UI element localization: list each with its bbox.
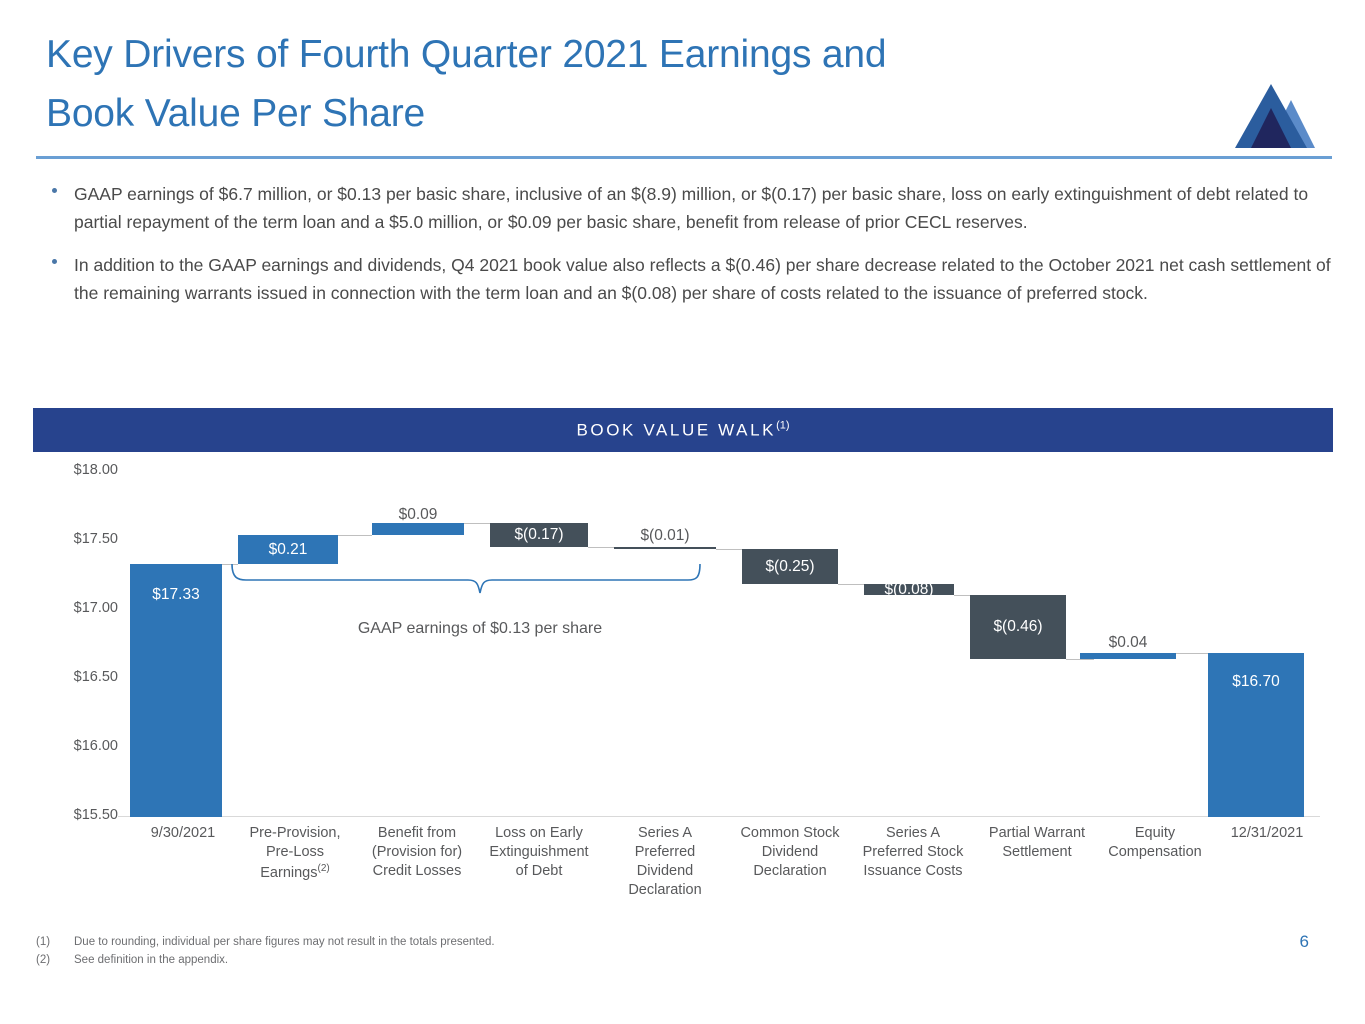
bar-label: $16.70 (1232, 673, 1279, 691)
y-tick-label: $15.50 (32, 807, 118, 823)
page-title: Key Drivers of Fourth Quarter 2021 Earni… (46, 26, 1206, 143)
bar-label: $(0.01) (640, 527, 689, 545)
bar-label: $(0.17) (514, 526, 563, 544)
y-tick-label: $17.00 (32, 600, 118, 616)
bar-label: $0.04 (1109, 634, 1148, 652)
chart-title-band: BOOK VALUE WALK(1) (33, 408, 1333, 452)
bar-label: $0.21 (269, 541, 308, 559)
footnote-row: (2) See definition in the appendix. (36, 952, 836, 970)
y-tick-label: $16.50 (32, 669, 118, 685)
slide: Key Drivers of Fourth Quarter 2021 Earni… (0, 0, 1365, 1024)
x-label-1: Pre-Provision,Pre-LossEarnings(2) (234, 824, 356, 883)
y-axis: $18.00 $17.50 $17.00 $16.50 $16.00 $15.5… (32, 452, 118, 922)
footnote-number: (2) (36, 952, 74, 970)
y-tick-label: $17.50 (32, 531, 118, 547)
list-item: GAAP earnings of $6.7 million, or $0.13 … (44, 180, 1332, 237)
page-number: 6 (1300, 932, 1309, 952)
x-label-8: EquityCompensation (1090, 824, 1220, 862)
x-axis-line (118, 816, 1320, 817)
y-tick-label: $18.00 (32, 462, 118, 478)
bar-label: $(0.25) (765, 558, 814, 576)
x-label-0: 9/30/2021 (118, 824, 248, 843)
chart-title-footnote-marker: (1) (776, 420, 789, 432)
footnotes: (1) Due to rounding, individual per shar… (36, 934, 836, 970)
connector-line (338, 535, 372, 536)
connector-line (838, 584, 864, 585)
y-tick-label: $16.00 (32, 738, 118, 754)
title-line-2: Book Value Per Share (46, 85, 1206, 144)
title-line-1: Key Drivers of Fourth Quarter 2021 Earni… (46, 26, 1206, 85)
connector-line (588, 547, 614, 548)
bullet-dot-icon (52, 188, 57, 193)
bar-loss-early-extinguishment[interactable]: $(0.17) (490, 523, 588, 547)
bar-label: $(0.08) (884, 581, 933, 599)
bar-credit-losses-benefit[interactable]: $0.09 (372, 523, 464, 535)
connector-line (1066, 659, 1094, 660)
bar-partial-warrant-settlement[interactable]: $(0.46) (970, 595, 1066, 659)
gaap-earnings-brace-icon (118, 452, 1320, 712)
bar-label: $0.09 (399, 506, 438, 524)
list-item: In addition to the GAAP earnings and div… (44, 251, 1332, 308)
bullet-text: GAAP earnings of $6.7 million, or $0.13 … (74, 180, 1332, 237)
bar-total-end[interactable]: $16.70 (1208, 653, 1304, 817)
x-label-4: Series APreferredDividendDeclaration (600, 824, 730, 901)
bar-preferred-issuance-costs[interactable]: $(0.08) (864, 584, 954, 595)
x-label-6: Series APreferred StockIssuance Costs (848, 824, 978, 881)
bar-total-start[interactable]: $17.33 (130, 564, 222, 817)
chart-title-text: BOOK VALUE WALK (576, 420, 776, 439)
gaap-earnings-annotation: GAAP earnings of $0.13 per share (358, 620, 602, 638)
footnote-row: (1) Due to rounding, individual per shar… (36, 934, 836, 952)
bar-equity-compensation[interactable]: $0.04 (1080, 653, 1176, 659)
footnote-text: Due to rounding, individual per share fi… (74, 934, 495, 952)
connector-line (464, 523, 490, 524)
bar-common-stock-dividend[interactable]: $(0.25) (742, 549, 838, 584)
x-axis-labels: 9/30/2021 Pre-Provision,Pre-LossEarnings… (118, 824, 1320, 920)
footnote-number: (1) (36, 934, 74, 952)
waterfall-chart: $18.00 $17.50 $17.00 $16.50 $16.00 $15.5… (0, 452, 1365, 922)
x-label-9: 12/31/2021 (1202, 824, 1332, 843)
header-divider (36, 156, 1332, 159)
bar-label: $17.33 (152, 586, 199, 604)
x-label-7: Partial WarrantSettlement (974, 824, 1100, 862)
connector-line (716, 549, 742, 550)
bar-series-a-preferred-dividend[interactable]: $(0.01) (614, 547, 716, 549)
bar-label: $(0.46) (993, 618, 1042, 636)
bar-pre-provision-earnings[interactable]: $0.21 (238, 535, 338, 564)
connector-line (1176, 653, 1208, 654)
mountain-logo (1229, 78, 1333, 148)
bullet-list: GAAP earnings of $6.7 million, or $0.13 … (44, 180, 1332, 321)
connector-line (222, 564, 238, 565)
x-label-3: Loss on EarlyExtinguishmentof Debt (476, 824, 602, 881)
chart-title: BOOK VALUE WALK(1) (33, 420, 1333, 441)
bullet-dot-icon (52, 259, 57, 264)
bullet-text: In addition to the GAAP earnings and div… (74, 251, 1332, 308)
x-label-2: Benefit from(Provision for)Credit Losses (356, 824, 478, 881)
x-label-5: Common StockDividendDeclaration (726, 824, 854, 881)
footnote-text: See definition in the appendix. (74, 952, 228, 970)
